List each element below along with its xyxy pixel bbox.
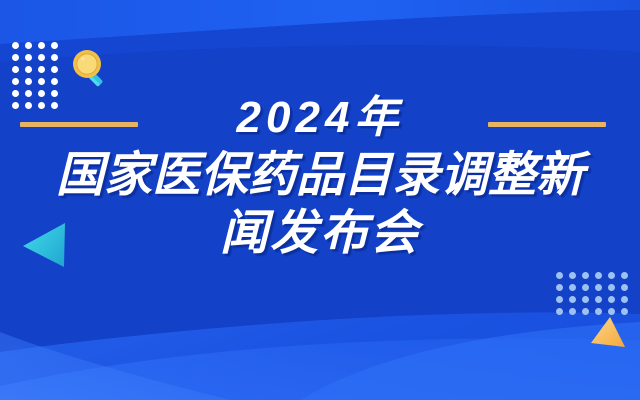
dot <box>569 296 576 303</box>
dot <box>12 54 19 61</box>
dot <box>582 272 589 279</box>
dot <box>556 272 563 279</box>
title-line-tail: 闻发布会 <box>0 210 640 258</box>
dot <box>556 284 563 291</box>
poster-banner: 2024年 国家医保药品目录调整新 闻发布会 <box>0 0 640 400</box>
dot <box>556 308 563 315</box>
dot <box>582 284 589 291</box>
dot <box>12 42 19 49</box>
dot <box>608 308 615 315</box>
dot <box>38 42 45 49</box>
dot <box>25 42 32 49</box>
dot <box>38 78 45 85</box>
dot <box>38 66 45 73</box>
dot <box>25 66 32 73</box>
title-line-year: 2024年 <box>0 96 640 140</box>
dot <box>582 308 589 315</box>
poster-title: 2024年 国家医保药品目录调整新 闻发布会 <box>0 96 640 258</box>
dot <box>595 296 602 303</box>
magnifier-icon <box>58 46 106 94</box>
dot <box>582 296 589 303</box>
dot <box>595 308 602 315</box>
triangle-orange-icon <box>590 316 626 350</box>
title-line-main: 国家医保药品目录调整新 <box>0 152 640 200</box>
dot <box>51 42 58 49</box>
dot <box>51 78 58 85</box>
dot <box>51 66 58 73</box>
dot-grid-right-icon <box>556 272 634 320</box>
dot <box>556 296 563 303</box>
dot <box>608 296 615 303</box>
dot <box>25 54 32 61</box>
dot <box>25 78 32 85</box>
dot <box>621 308 628 315</box>
dot <box>595 272 602 279</box>
dot <box>12 78 19 85</box>
dot <box>621 272 628 279</box>
dot <box>12 66 19 73</box>
dot <box>569 308 576 315</box>
dot <box>595 284 602 291</box>
dot <box>621 296 628 303</box>
dot <box>569 272 576 279</box>
dot <box>608 272 615 279</box>
dot <box>569 284 576 291</box>
dot <box>621 284 628 291</box>
dot <box>51 54 58 61</box>
dot <box>38 54 45 61</box>
dot <box>608 284 615 291</box>
